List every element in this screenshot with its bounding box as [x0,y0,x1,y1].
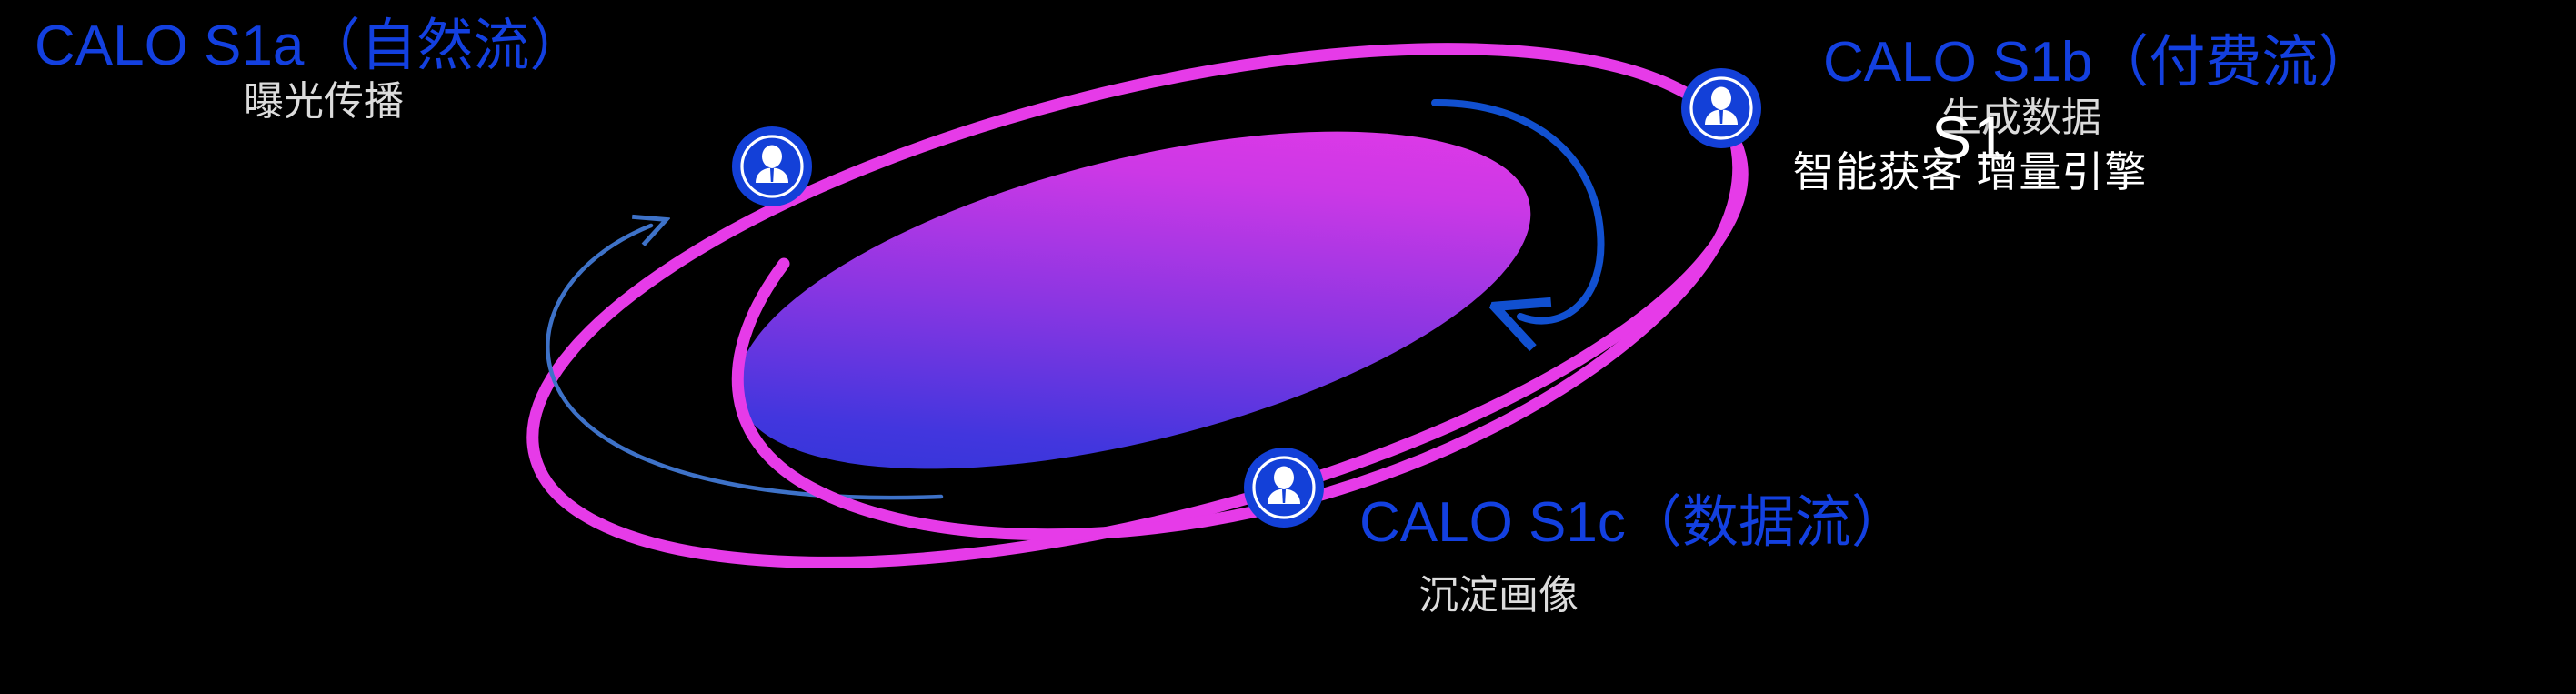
node-s1a[interactable] [732,126,812,206]
diagram-canvas: CALO S1a（自然流） 曝光传播 CALO S1b（付费流） 生成数据 CA… [0,0,2576,694]
node-s1c[interactable] [1244,448,1324,528]
node-s1b[interactable] [1681,68,1761,148]
core-ellipse [705,65,1563,536]
orbit-diagram [0,0,2576,694]
